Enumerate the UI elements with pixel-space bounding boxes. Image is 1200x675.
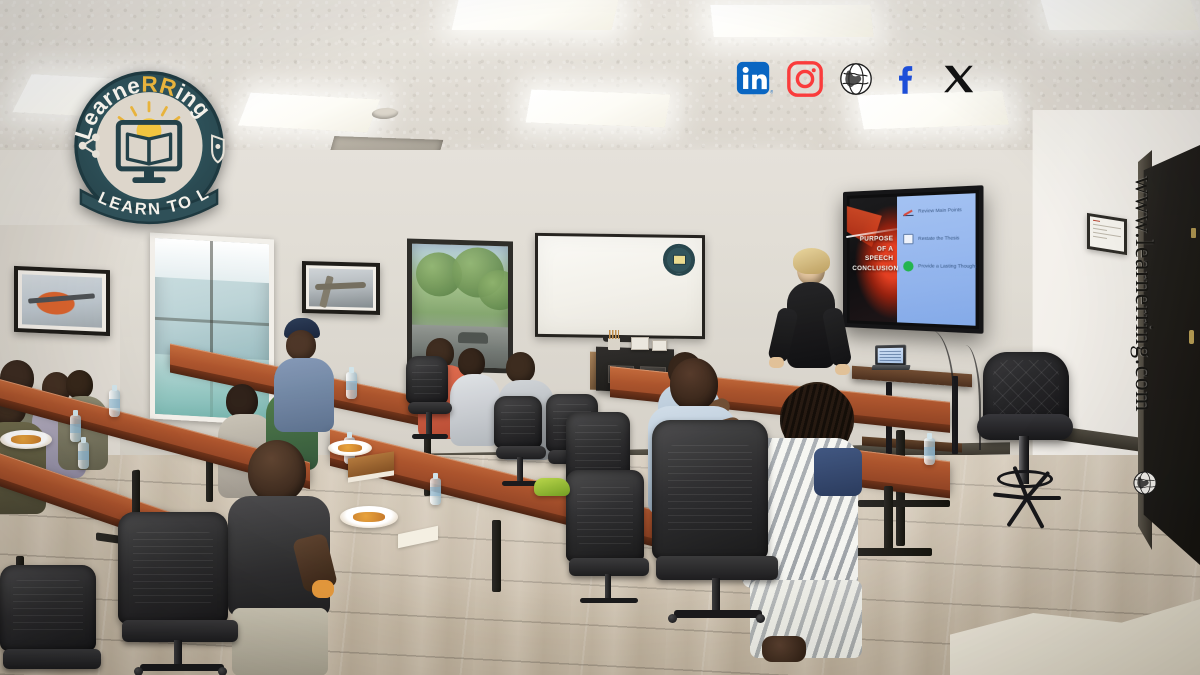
ceiling-light-panel <box>710 5 873 37</box>
framed-certificate <box>1087 213 1127 255</box>
certificate-seal-line <box>1093 219 1100 222</box>
laptop[interactable] <box>872 345 910 371</box>
slide-title-line: SPEECH <box>852 254 893 264</box>
presenter <box>773 252 847 392</box>
certificate-text-line <box>1093 227 1107 231</box>
stool-base <box>991 490 1063 512</box>
slide-bullet: Restate the Thesis <box>904 233 970 245</box>
website-url-decal: www.learnerring.com <box>1129 176 1159 412</box>
chair-caster <box>218 667 227 675</box>
chair-caster <box>668 614 677 623</box>
pencil-cup <box>608 338 620 350</box>
monitor-icon <box>673 255 686 265</box>
slide-bullet-text: Provide a Lasting Thought <box>918 264 976 269</box>
adult-head <box>286 330 316 360</box>
slide-bullet: Provide a Lasting Thought <box>904 261 970 272</box>
whiteboard-logo <box>663 244 695 276</box>
svg-text:®: ® <box>770 88 773 95</box>
adult-torso <box>274 358 334 432</box>
laptop-lid <box>875 345 906 367</box>
certificate-text-line <box>1093 235 1107 239</box>
helicopter-artwork <box>22 274 102 327</box>
adult-with-cap <box>276 318 344 426</box>
student-head <box>226 384 258 418</box>
task-chair[interactable] <box>566 470 652 616</box>
door-hinge <box>1191 228 1196 238</box>
chair-caster <box>756 614 765 623</box>
food-in-hand <box>312 580 334 598</box>
tissue-box <box>652 340 667 351</box>
globe-watermark-icon <box>1132 470 1159 497</box>
task-chair[interactable] <box>652 420 782 650</box>
learnerring-logo-badge: LearneRRing LEARN TO LEAD <box>66 66 232 232</box>
presentation-slide: PURPOSE OF A SPEECH CONCLUSION Review Ma… <box>850 193 976 326</box>
green-dot-icon <box>904 261 914 272</box>
slide-bullet: Review Main Points <box>904 204 970 217</box>
laptop-keyboard[interactable] <box>871 365 910 370</box>
ceiling-light-panel <box>238 93 380 133</box>
slide-bullets-panel: Review Main Points Restate the Thesis Pr… <box>897 193 975 326</box>
social-media-bar: ® <box>735 60 977 98</box>
linkedin-icon[interactable]: ® <box>735 60 773 98</box>
drafting-stool[interactable] <box>975 352 1079 532</box>
table-leg <box>492 520 501 592</box>
document-icon <box>904 234 914 245</box>
globe-icon[interactable] <box>837 60 875 98</box>
ceiling-light-panel <box>526 90 671 128</box>
table-leg <box>884 486 893 554</box>
facebook-icon[interactable] <box>888 60 926 98</box>
ceiling-light-panel <box>452 0 619 30</box>
line-chart-icon <box>904 206 914 217</box>
paper-plate <box>340 506 398 528</box>
instagram-icon[interactable] <box>786 60 824 98</box>
task-chair[interactable] <box>0 565 104 675</box>
presenter-hand-left <box>769 357 784 368</box>
framed-osprey-photo <box>302 261 380 315</box>
wall-mounted-tv: PURPOSE OF A SPEECH CONCLUSION Review Ma… <box>843 185 984 334</box>
student-shorts <box>232 608 328 675</box>
slide-title-panel: PURPOSE OF A SPEECH CONCLUSION <box>850 197 898 323</box>
ceiling-light-panel <box>1041 0 1200 30</box>
water-bottle <box>346 372 357 399</box>
presenter-hand-right <box>835 364 850 375</box>
student-head <box>458 348 485 377</box>
water-bottle <box>109 390 120 417</box>
x-twitter-icon[interactable] <box>939 60 977 98</box>
osprey-artwork <box>309 268 373 308</box>
student-head <box>248 440 306 502</box>
water-bottle <box>78 442 89 469</box>
student-head <box>506 352 535 383</box>
water-bottle <box>924 438 935 465</box>
slide-title-line: PURPOSE OF A <box>852 234 893 254</box>
slide-title-line: CONCLUSION <box>852 264 893 274</box>
backpack-strap <box>814 448 862 496</box>
door-handle[interactable] <box>1189 330 1194 344</box>
laptop-screen <box>878 348 903 364</box>
paper-plate <box>0 430 52 449</box>
water-bottle <box>430 478 441 505</box>
task-chair[interactable] <box>406 356 452 446</box>
student-head <box>66 370 93 399</box>
tree-foliage <box>478 270 513 311</box>
sneaker <box>534 478 570 496</box>
slide-title: PURPOSE OF A SPEECH CONCLUSION <box>852 234 893 273</box>
student-head <box>670 358 718 410</box>
classroom-photo: PURPOSE OF A SPEECH CONCLUSION Review Ma… <box>0 0 1200 675</box>
whiteboard <box>535 233 705 339</box>
slide-bullet-text: Restate the Thesis <box>918 236 959 241</box>
chair-caster <box>134 667 143 675</box>
student-torso <box>450 374 500 446</box>
framed-helicopter-photo <box>14 266 110 336</box>
presenter-hair <box>793 248 830 274</box>
slide-bullet-text: Review Main Points <box>918 208 962 214</box>
task-chair[interactable] <box>118 512 243 674</box>
water-bottle <box>70 415 81 442</box>
tissue-box <box>631 337 649 350</box>
